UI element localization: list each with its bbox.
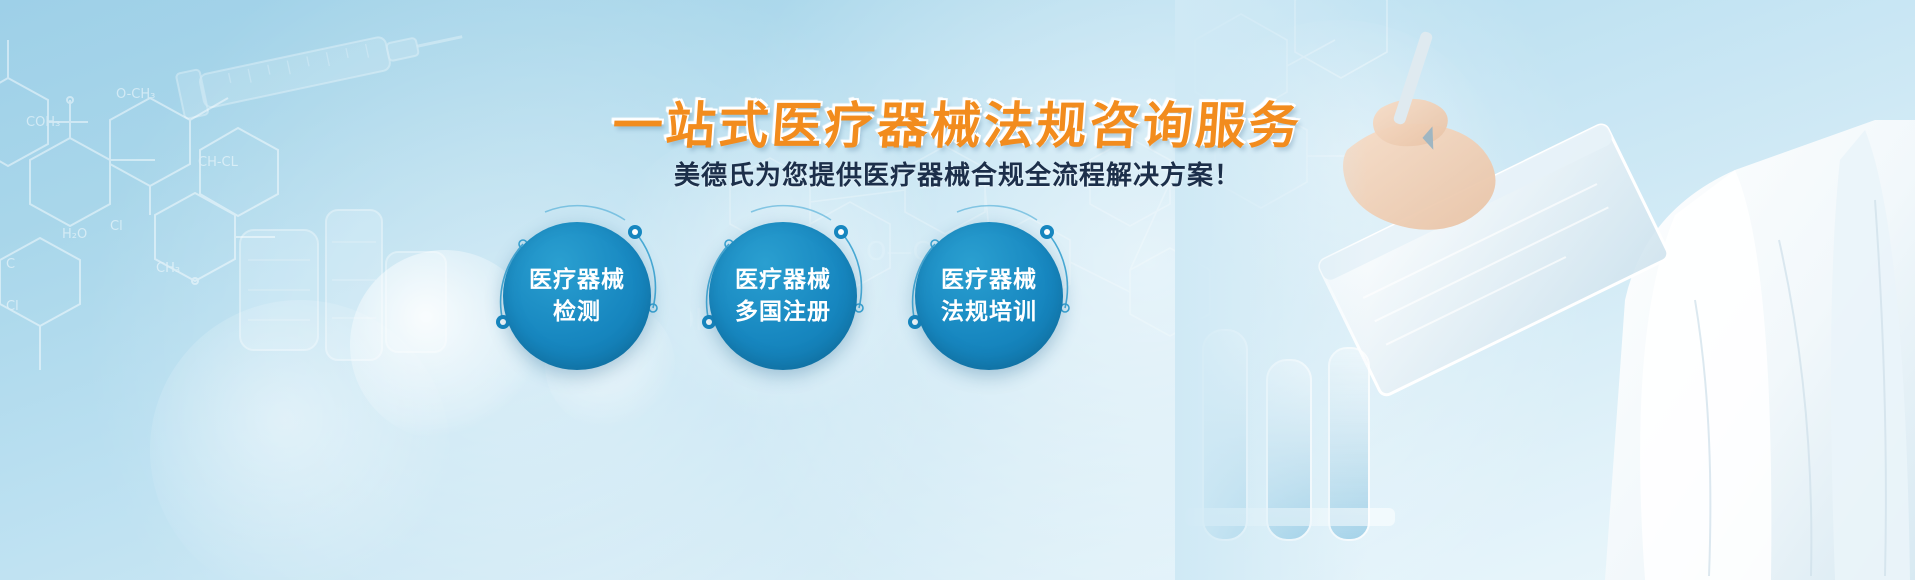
hero-banner: - Cl O-CH₃ COH₃ CH-CL H₂O Cl C Cl ₂ CH₃ bbox=[0, 0, 1915, 580]
badge-line-2: 检测 bbox=[553, 296, 601, 328]
badge-disc[interactable]: 医疗器械 检测 bbox=[503, 222, 651, 370]
service-badge-group: 医疗器械 检测 bbox=[503, 222, 1083, 372]
svg-text:Cl: Cl bbox=[110, 219, 123, 234]
badge-line-2: 多国注册 bbox=[735, 296, 831, 328]
badge-line-1: 医疗器械 bbox=[529, 264, 625, 296]
svg-text:H₂O: H₂O bbox=[62, 227, 87, 242]
service-badge-multicountry-registration[interactable]: 医疗器械 多国注册 bbox=[709, 222, 857, 370]
badge-disc[interactable]: 医疗器械 多国注册 bbox=[709, 222, 857, 370]
service-badge-testing[interactable]: 医疗器械 检测 bbox=[503, 222, 651, 370]
page-title: 一站式医疗器械法规咨询服务 bbox=[0, 86, 1915, 158]
service-badge-regulatory-training[interactable]: 医疗器械 法规培训 bbox=[915, 222, 1063, 370]
svg-text:CH₃: CH₃ bbox=[156, 261, 180, 276]
badge-disc[interactable]: 医疗器械 法规培训 bbox=[915, 222, 1063, 370]
badge-line-2: 法规培训 bbox=[941, 296, 1037, 328]
svg-text:C: C bbox=[6, 257, 15, 272]
page-subtitle: 美德氏为您提供医疗器械合规全流程解决方案！ bbox=[0, 155, 1915, 192]
svg-text:Cl: Cl bbox=[6, 299, 19, 314]
badge-line-1: 医疗器械 bbox=[941, 264, 1037, 296]
badge-line-1: 医疗器械 bbox=[735, 264, 831, 296]
